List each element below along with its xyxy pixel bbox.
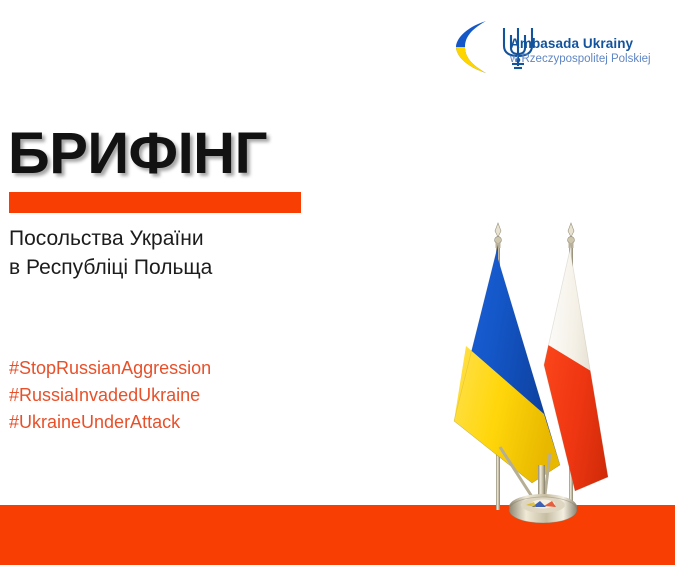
- hashtag-item: #RussiaInvadedUkraine: [9, 382, 211, 409]
- briefing-poster: Ambasada Ukrainy w Rzeczypospolitej Pols…: [0, 0, 675, 565]
- ukraine-poland-desk-flags-photo: [440, 215, 675, 560]
- title-underline-bar: [9, 192, 301, 213]
- embassy-name: Ambasada Ukrainy: [510, 36, 670, 52]
- subtitle-line-1: Посольства України: [9, 224, 212, 253]
- page-title: БРИФІНГ: [8, 123, 267, 185]
- hashtag-item: #StopRussianAggression: [9, 355, 211, 382]
- hashtag-list: #StopRussianAggression #RussiaInvadedUkr…: [9, 355, 211, 436]
- embassy-country: w Rzeczypospolitej Polskiej: [510, 52, 670, 67]
- hashtag-item: #UkraineUnderAttack: [9, 409, 211, 436]
- embassy-logo-text: Ambasada Ukrainy w Rzeczypospolitej Pols…: [510, 36, 670, 67]
- subtitle: Посольства України в Республіці Польща: [9, 224, 212, 282]
- subtitle-line-2: в Республіці Польща: [9, 253, 212, 282]
- embassy-logo: Ambasada Ukrainy w Rzeczypospolitej Pols…: [452, 16, 664, 80]
- ukraine-crescent-arc-icon: [452, 18, 494, 76]
